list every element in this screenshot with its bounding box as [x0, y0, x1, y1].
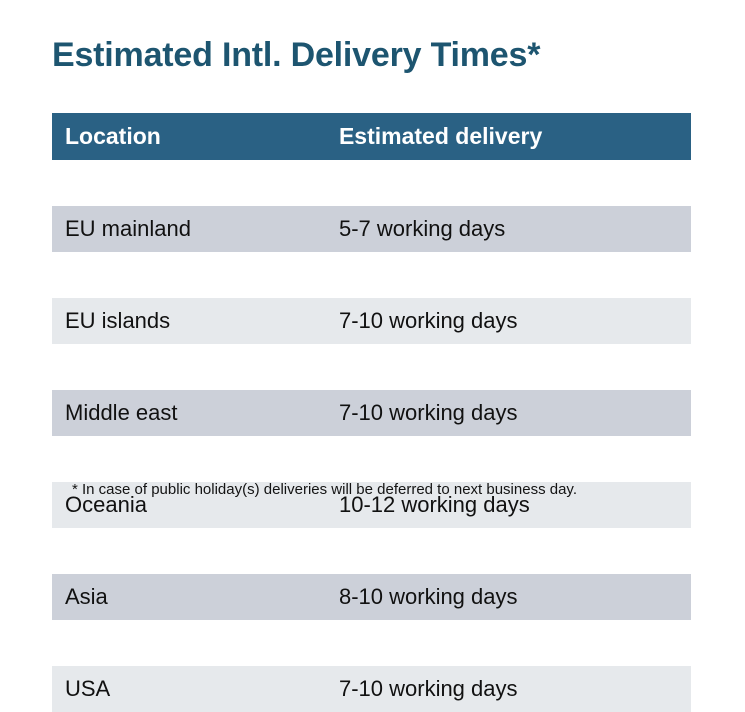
column-header-location: Location: [52, 113, 313, 160]
row-spacer-gutter: [313, 620, 326, 666]
row-spacer-gutter: [313, 344, 326, 390]
row-spacer: [52, 620, 691, 666]
row-spacer: [52, 344, 691, 390]
cell-location: Asia: [52, 574, 313, 620]
page-title: Estimated Intl. Delivery Times*: [52, 36, 540, 75]
row-spacer-cell: [326, 252, 691, 298]
table-row: Asia 8-10 working days: [52, 574, 691, 620]
cell-location: EU islands: [52, 298, 313, 344]
row-spacer-cell: [326, 528, 691, 574]
column-header-estimated-delivery: Estimated delivery: [326, 113, 691, 160]
column-divider: [313, 666, 326, 712]
row-spacer-gutter: [313, 528, 326, 574]
cell-delivery: 5-7 working days: [326, 206, 691, 252]
row-spacer-gutter: [313, 252, 326, 298]
table-row: EU islands 7-10 working days: [52, 298, 691, 344]
row-spacer-cell: [52, 344, 313, 390]
row-spacer-cell: [326, 436, 691, 482]
column-divider: [313, 298, 326, 344]
row-spacer-cell: [52, 528, 313, 574]
column-divider: [313, 113, 326, 160]
table-row: USA 7-10 working days: [52, 666, 691, 712]
cell-delivery: 7-10 working days: [326, 666, 691, 712]
column-divider: [313, 574, 326, 620]
cell-delivery: 7-10 working days: [326, 298, 691, 344]
cell-location: EU mainland: [52, 206, 313, 252]
table-row: Middle east 7-10 working days: [52, 390, 691, 436]
cell-delivery: 7-10 working days: [326, 390, 691, 436]
delivery-times-table: Location Estimated delivery EU mainland …: [52, 113, 691, 712]
row-spacer: [52, 252, 691, 298]
row-spacer-cell: [52, 620, 313, 666]
row-spacer: [52, 160, 691, 206]
delivery-times-page: Estimated Intl. Delivery Times* Location…: [0, 0, 745, 536]
column-divider: [313, 206, 326, 252]
footnote-text: * In case of public holiday(s) deliverie…: [72, 481, 577, 498]
row-spacer-cell: [52, 160, 313, 206]
cell-location: USA: [52, 666, 313, 712]
row-spacer: [52, 436, 691, 482]
row-spacer-cell: [52, 436, 313, 482]
cell-location: Middle east: [52, 390, 313, 436]
row-spacer-gutter: [313, 160, 326, 206]
column-divider: [313, 390, 326, 436]
row-spacer-cell: [326, 344, 691, 390]
row-spacer: [52, 528, 691, 574]
row-spacer-cell: [326, 620, 691, 666]
row-spacer-cell: [326, 160, 691, 206]
row-spacer-gutter: [313, 436, 326, 482]
cell-delivery: 8-10 working days: [326, 574, 691, 620]
table-header-row: Location Estimated delivery: [52, 113, 691, 160]
row-spacer-cell: [52, 252, 313, 298]
table-row: EU mainland 5-7 working days: [52, 206, 691, 252]
